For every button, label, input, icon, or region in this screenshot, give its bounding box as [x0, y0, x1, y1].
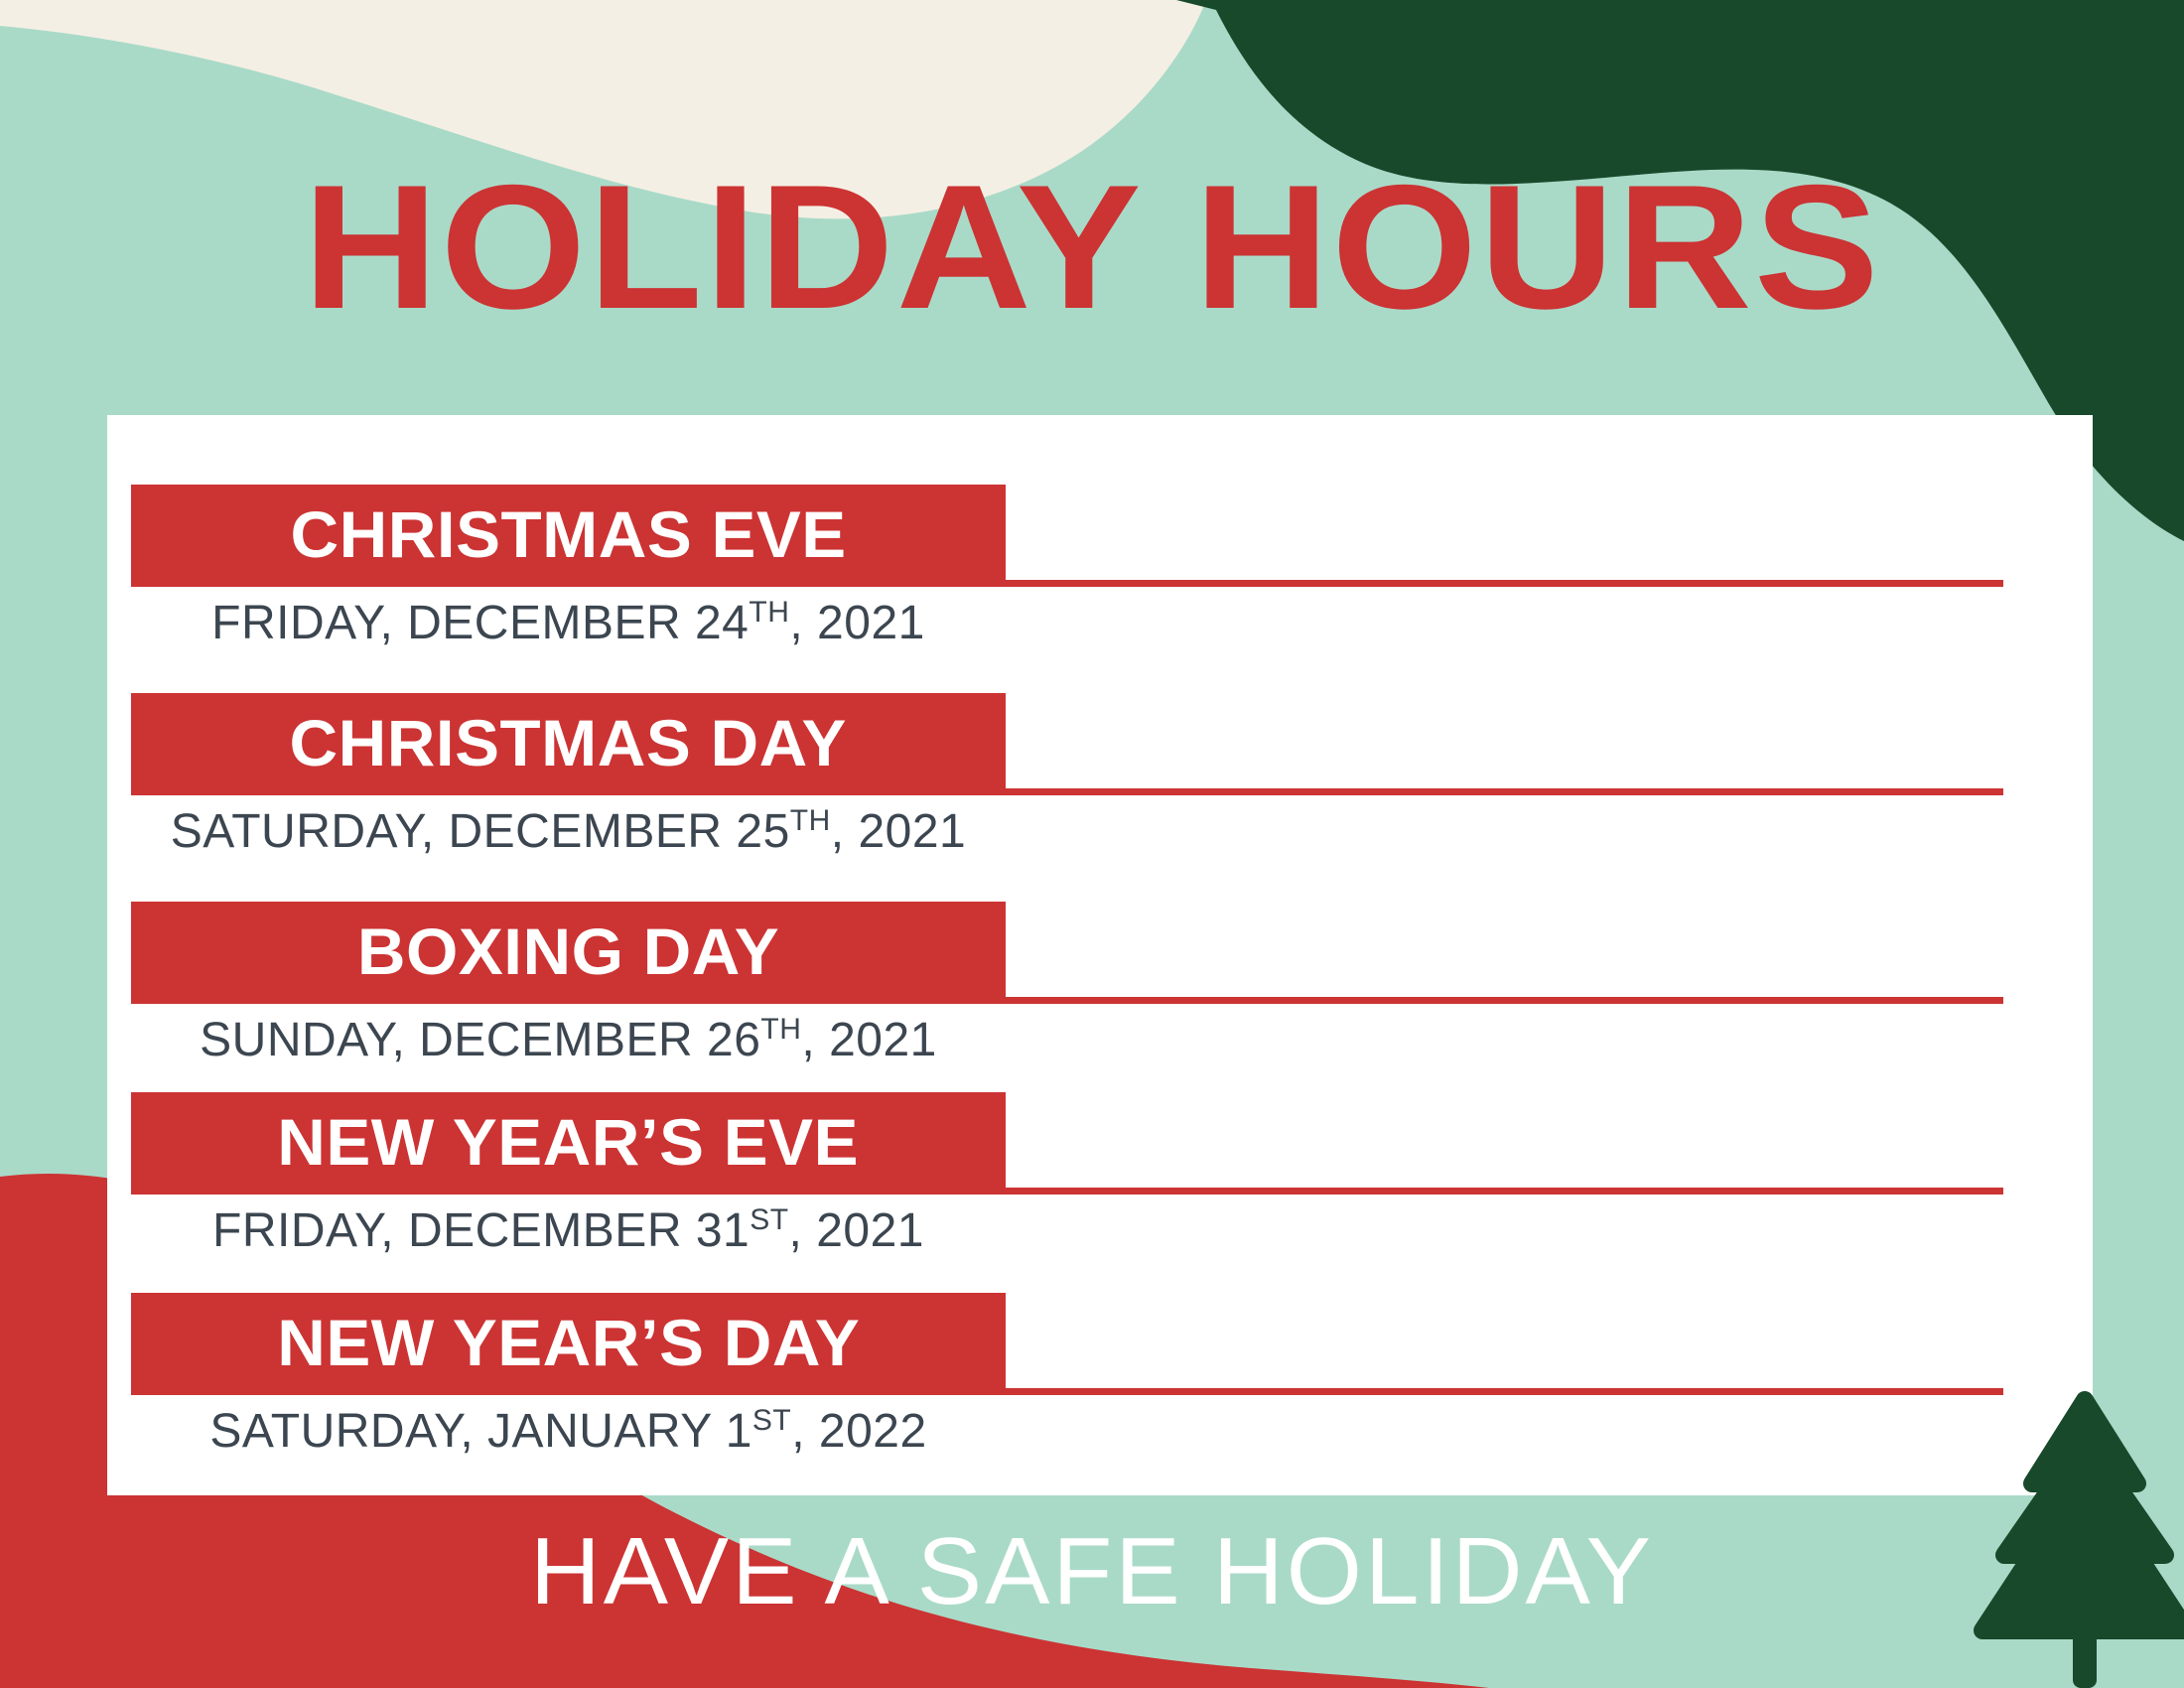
holiday-name-label: BOXING DAY: [357, 918, 779, 984]
holiday-date-suffix: , 2021: [801, 1014, 936, 1066]
holiday-date-label: SUNDAY, DECEMBER 26TH, 2021: [131, 1013, 1006, 1068]
holiday-name-chip: NEW YEAR’S DAY: [131, 1293, 1006, 1395]
holiday-hours-poster: HOLIDAY HOURS CHRISTMAS EVE FRIDAY, DECE…: [0, 0, 2184, 1688]
holiday-date-ordinal: TH: [790, 804, 831, 837]
holiday-name-label: CHRISTMAS DAY: [290, 710, 847, 775]
holiday-name-chip: NEW YEAR’S EVE: [131, 1092, 1006, 1195]
holiday-date-suffix: , 2021: [789, 1204, 924, 1257]
christmas-tree-icon: [1971, 1380, 2184, 1688]
holiday-date-label: FRIDAY, DECEMBER 31ST, 2021: [131, 1203, 1006, 1259]
holiday-name-label: NEW YEAR’S DAY: [277, 1310, 860, 1375]
holiday-date-ordinal: TH: [749, 596, 789, 629]
holiday-name-label: CHRISTMAS EVE: [290, 501, 846, 567]
holiday-date-prefix: SATURDAY, JANUARY 1: [209, 1405, 752, 1458]
holiday-date-label: SATURDAY, JANUARY 1ST, 2022: [131, 1404, 1006, 1460]
holiday-date-ordinal: ST: [752, 1404, 791, 1437]
holiday-name-chip: CHRISTMAS DAY: [131, 693, 1006, 795]
schedule-rows: CHRISTMAS EVE FRIDAY, DECEMBER 24TH, 202…: [0, 0, 2184, 1688]
holiday-date-suffix: , 2021: [831, 805, 966, 858]
holiday-date-prefix: FRIDAY, DECEMBER 31: [212, 1204, 750, 1257]
holiday-date-prefix: FRIDAY, DECEMBER 24: [211, 597, 749, 649]
holiday-name-chip: BOXING DAY: [131, 902, 1006, 1004]
holiday-name-chip: CHRISTMAS EVE: [131, 485, 1006, 587]
holiday-date-ordinal: ST: [750, 1203, 788, 1236]
holiday-date-suffix: , 2022: [791, 1405, 926, 1458]
holiday-date-prefix: SATURDAY, DECEMBER 25: [171, 805, 790, 858]
holiday-date-suffix: , 2021: [789, 597, 924, 649]
footer-message: HAVE A SAFE HOLIDAY: [0, 1517, 2184, 1626]
holiday-date-prefix: SUNDAY, DECEMBER 26: [200, 1014, 760, 1066]
holiday-date-ordinal: TH: [760, 1013, 801, 1046]
holiday-name-label: NEW YEAR’S EVE: [278, 1109, 860, 1175]
holiday-date-label: FRIDAY, DECEMBER 24TH, 2021: [131, 596, 1006, 651]
holiday-date-label: SATURDAY, DECEMBER 25TH, 2021: [131, 804, 1006, 860]
